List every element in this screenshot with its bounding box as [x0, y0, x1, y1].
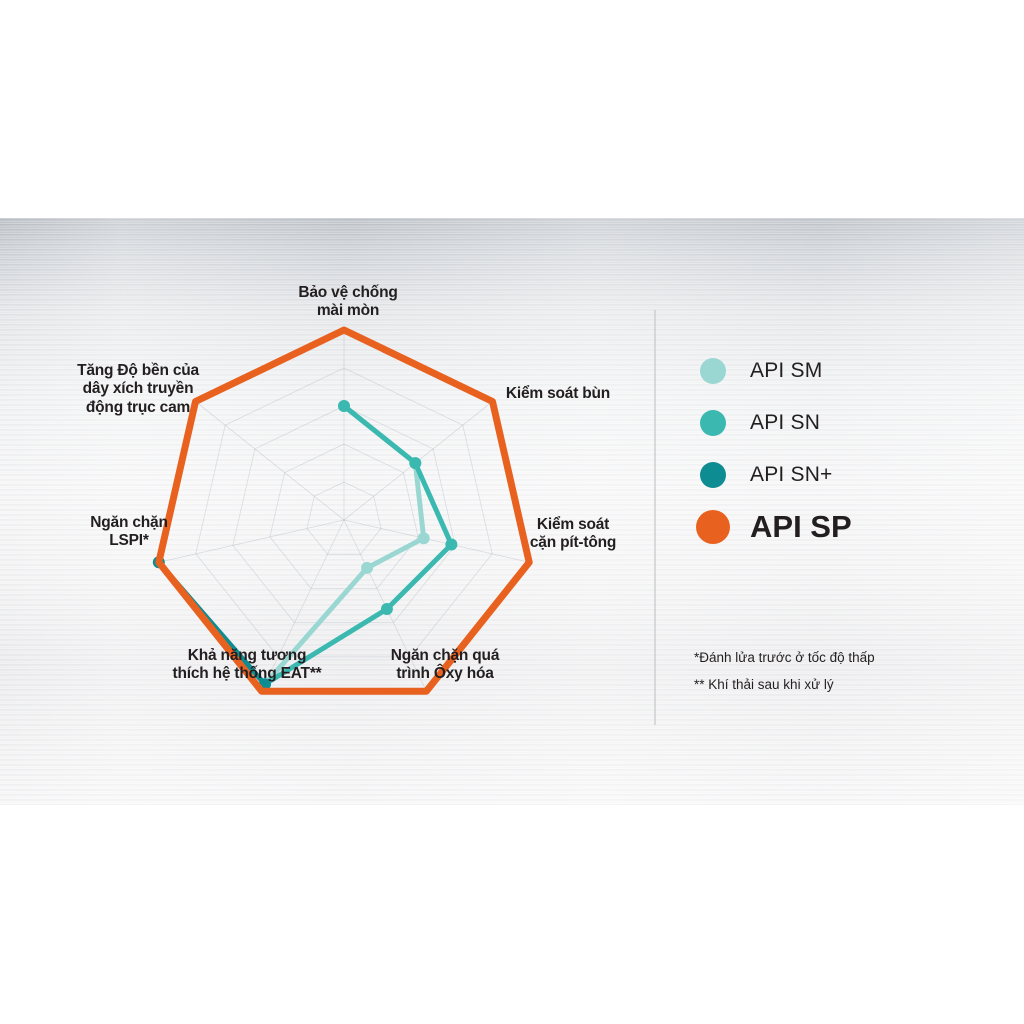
axis-label-5: Ngăn chặn LSPI*: [74, 514, 184, 551]
legend: API SMAPI SNAPI SN+API SP: [700, 345, 1000, 553]
legend-item-api-sp[interactable]: API SP: [700, 501, 1000, 553]
legend-label: API SP: [750, 509, 852, 545]
series-point: [361, 562, 373, 574]
legend-swatch-icon: [700, 410, 726, 436]
legend-swatch-icon: [700, 462, 726, 488]
axis-label-0: Bảo vệ chống mài mòn: [268, 284, 428, 321]
legend-item-api-sm[interactable]: API SM: [700, 345, 1000, 397]
series-point: [445, 539, 457, 551]
axis-label-3: Ngăn chặn quá trình Ôxy hóa: [370, 647, 520, 684]
chart-canvas: Bảo vệ chống mài mònKiểm soát bùnKiểm so…: [0, 0, 1024, 1024]
series-line: [265, 406, 452, 684]
series-point: [409, 457, 421, 469]
legend-label: API SN+: [750, 463, 833, 487]
axis-label-2: Kiểm soát cặn pít-tông: [508, 516, 638, 553]
legend-item-api-sn[interactable]: API SN: [700, 397, 1000, 449]
footnote-1: *Đánh lửa trước ở tốc độ thấp: [694, 644, 875, 671]
legend-swatch-icon: [696, 510, 730, 544]
grid-spoke: [159, 520, 344, 562]
series-point: [381, 603, 393, 615]
series-point: [418, 532, 430, 544]
axis-label-1: Kiểm soát bùn: [478, 385, 638, 403]
legend-swatch-icon: [700, 358, 726, 384]
footnote-group: *Đánh lửa trước ở tốc độ thấp** Khí thải…: [694, 644, 875, 698]
legend-label: API SN: [750, 411, 820, 435]
footnote-2: ** Khí thải sau khi xử lý: [694, 671, 875, 698]
legend-item-api-sn[interactable]: API SN+: [700, 449, 1000, 501]
axis-label-4: Khả năng tương thích hệ thống EAT**: [152, 647, 342, 684]
grid-spoke: [196, 402, 345, 521]
axis-label-6: Tăng Độ bền của dây xích truyền động trụ…: [58, 362, 218, 417]
series-point: [338, 400, 350, 412]
legend-label: API SM: [750, 359, 822, 383]
